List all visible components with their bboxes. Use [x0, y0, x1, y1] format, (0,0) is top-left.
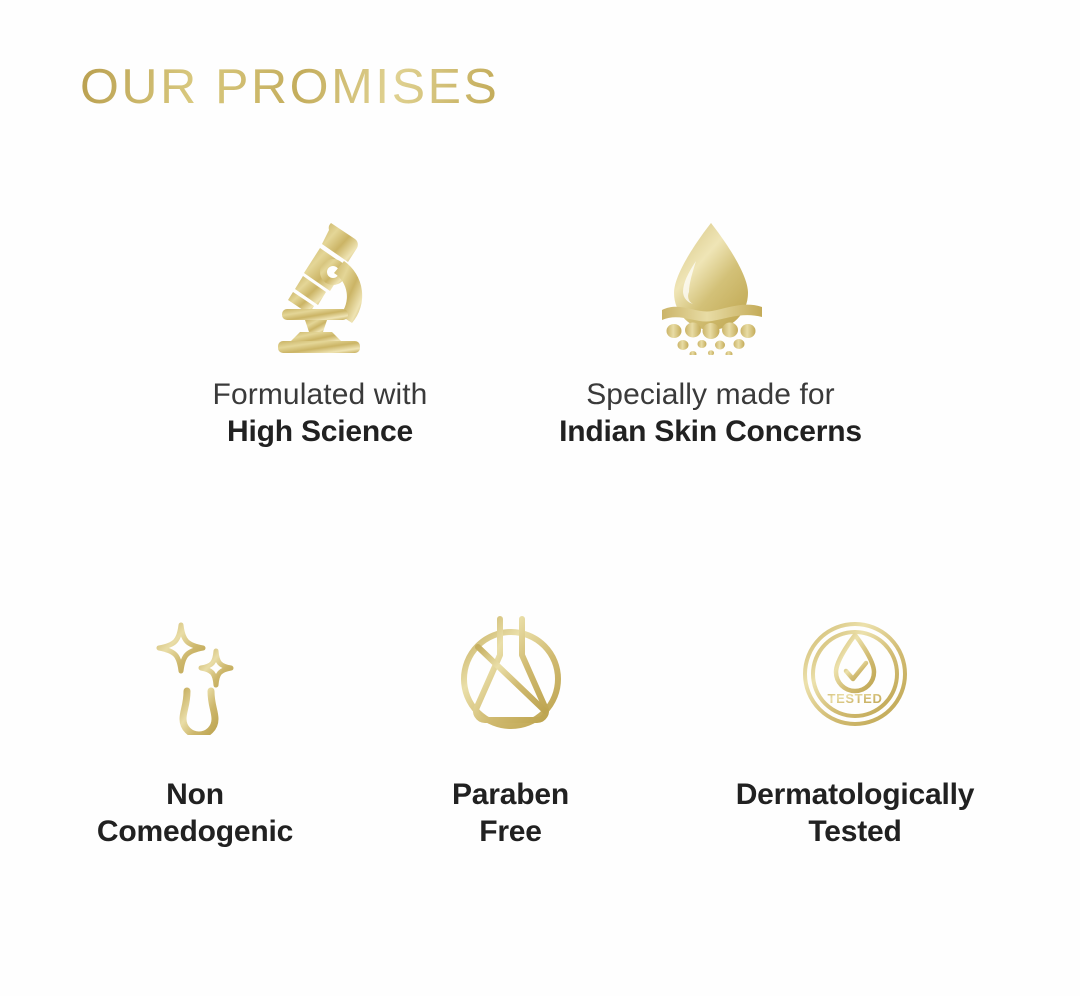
promises-section: OUR PROMISES — [0, 0, 1080, 996]
promise-label: Specially made for Indian Skin Concerns — [559, 377, 862, 450]
promise-label-line2: Comedogenic — [97, 814, 293, 851]
promise-item-non-comedogenic: Non Comedogenic — [45, 605, 345, 850]
promise-item-dermatologically-tested: TESTED Dermatologically Tested — [690, 605, 1020, 850]
promise-label-line1: Paraben — [452, 777, 569, 814]
promise-label: Non Comedogenic — [97, 777, 293, 850]
droplet-absorption-icon — [652, 215, 770, 355]
no-flask-icon — [455, 605, 567, 735]
promise-label-line1: Non — [97, 777, 293, 814]
promise-label-line1: Formulated with — [213, 377, 428, 414]
pore-sparkle-icon — [133, 605, 257, 735]
page-title: OUR PROMISES — [80, 63, 499, 112]
promise-label-line1: Dermatologically — [736, 777, 975, 814]
promise-label-line2: Free — [452, 814, 569, 851]
promise-label-line1: Specially made for — [559, 377, 862, 414]
promise-item-high-science: Formulated with High Science — [170, 215, 470, 450]
promise-label-line2: Indian Skin Concerns — [559, 414, 862, 451]
promise-label: Paraben Free — [452, 777, 569, 850]
microscope-icon — [260, 215, 380, 355]
promise-item-indian-skin: Specially made for Indian Skin Concerns — [528, 215, 893, 450]
promise-label-line2: Tested — [736, 814, 975, 851]
promise-label: Formulated with High Science — [213, 377, 428, 450]
promise-label: Dermatologically Tested — [736, 777, 975, 850]
promise-item-paraben-free: Paraben Free — [398, 605, 623, 850]
tested-badge-icon: TESTED — [800, 605, 910, 735]
promise-label-line2: High Science — [213, 414, 428, 451]
tested-badge-text: TESTED — [828, 691, 883, 706]
